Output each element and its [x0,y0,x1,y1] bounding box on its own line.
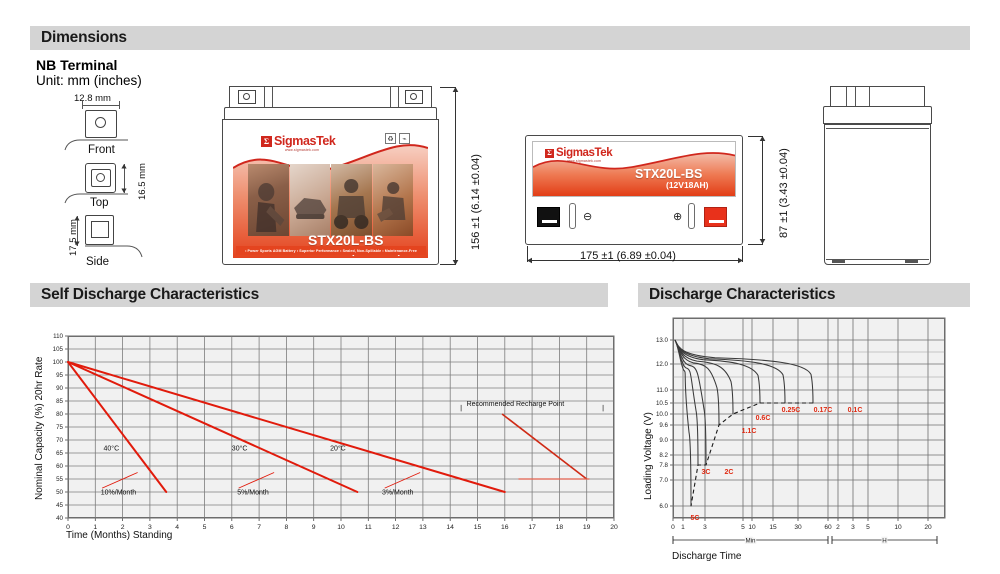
svg-text:10: 10 [748,524,756,531]
svg-text:60: 60 [824,524,832,531]
svg-text:0: 0 [671,524,675,531]
discharge-xlabel: Discharge Time [672,551,741,562]
svg-text:2: 2 [836,524,840,531]
svg-text:2C: 2C [725,469,734,476]
datasheet-page: Dimensions NB Terminal Unit: mm (inches)… [0,0,1000,574]
svg-text:6.0: 6.0 [659,503,668,510]
svg-text:5: 5 [741,524,745,531]
svg-text:9.0: 9.0 [659,437,668,444]
svg-text:1: 1 [681,524,685,531]
svg-text:1.1C: 1.1C [742,428,757,435]
svg-text:30: 30 [794,524,802,531]
svg-text:0.1C: 0.1C [848,407,863,414]
svg-text:12.0: 12.0 [656,361,669,368]
discharge-svg: 13.012.011.010.510.09.69.08.27.87.06.001… [0,0,1000,574]
svg-text:5: 5 [866,524,870,531]
svg-text:3C: 3C [702,469,711,476]
svg-text:5C: 5C [691,515,700,522]
svg-text:20: 20 [924,524,932,531]
svg-text:10.0: 10.0 [656,411,669,418]
svg-text:9.6: 9.6 [659,422,668,429]
discharge-ylabel: Loading Voltage (V) [643,412,654,500]
svg-text:10.5: 10.5 [656,400,669,407]
svg-text:7.8: 7.8 [659,462,668,469]
svg-text:0.17C: 0.17C [814,407,833,414]
svg-text:7.0: 7.0 [659,477,668,484]
discharge-chart: 13.012.011.010.510.09.69.08.27.87.06.001… [0,0,1000,574]
svg-text:H: H [882,538,886,545]
svg-text:15: 15 [769,524,777,531]
svg-text:13.0: 13.0 [656,337,669,344]
svg-text:0.25C: 0.25C [782,407,801,414]
svg-text:0.6C: 0.6C [756,415,771,422]
svg-text:3: 3 [851,524,855,531]
svg-text:8.2: 8.2 [659,452,668,459]
svg-text:Min: Min [746,538,757,545]
svg-text:3: 3 [703,524,707,531]
svg-text:10: 10 [894,524,902,531]
svg-text:11.0: 11.0 [656,387,668,394]
